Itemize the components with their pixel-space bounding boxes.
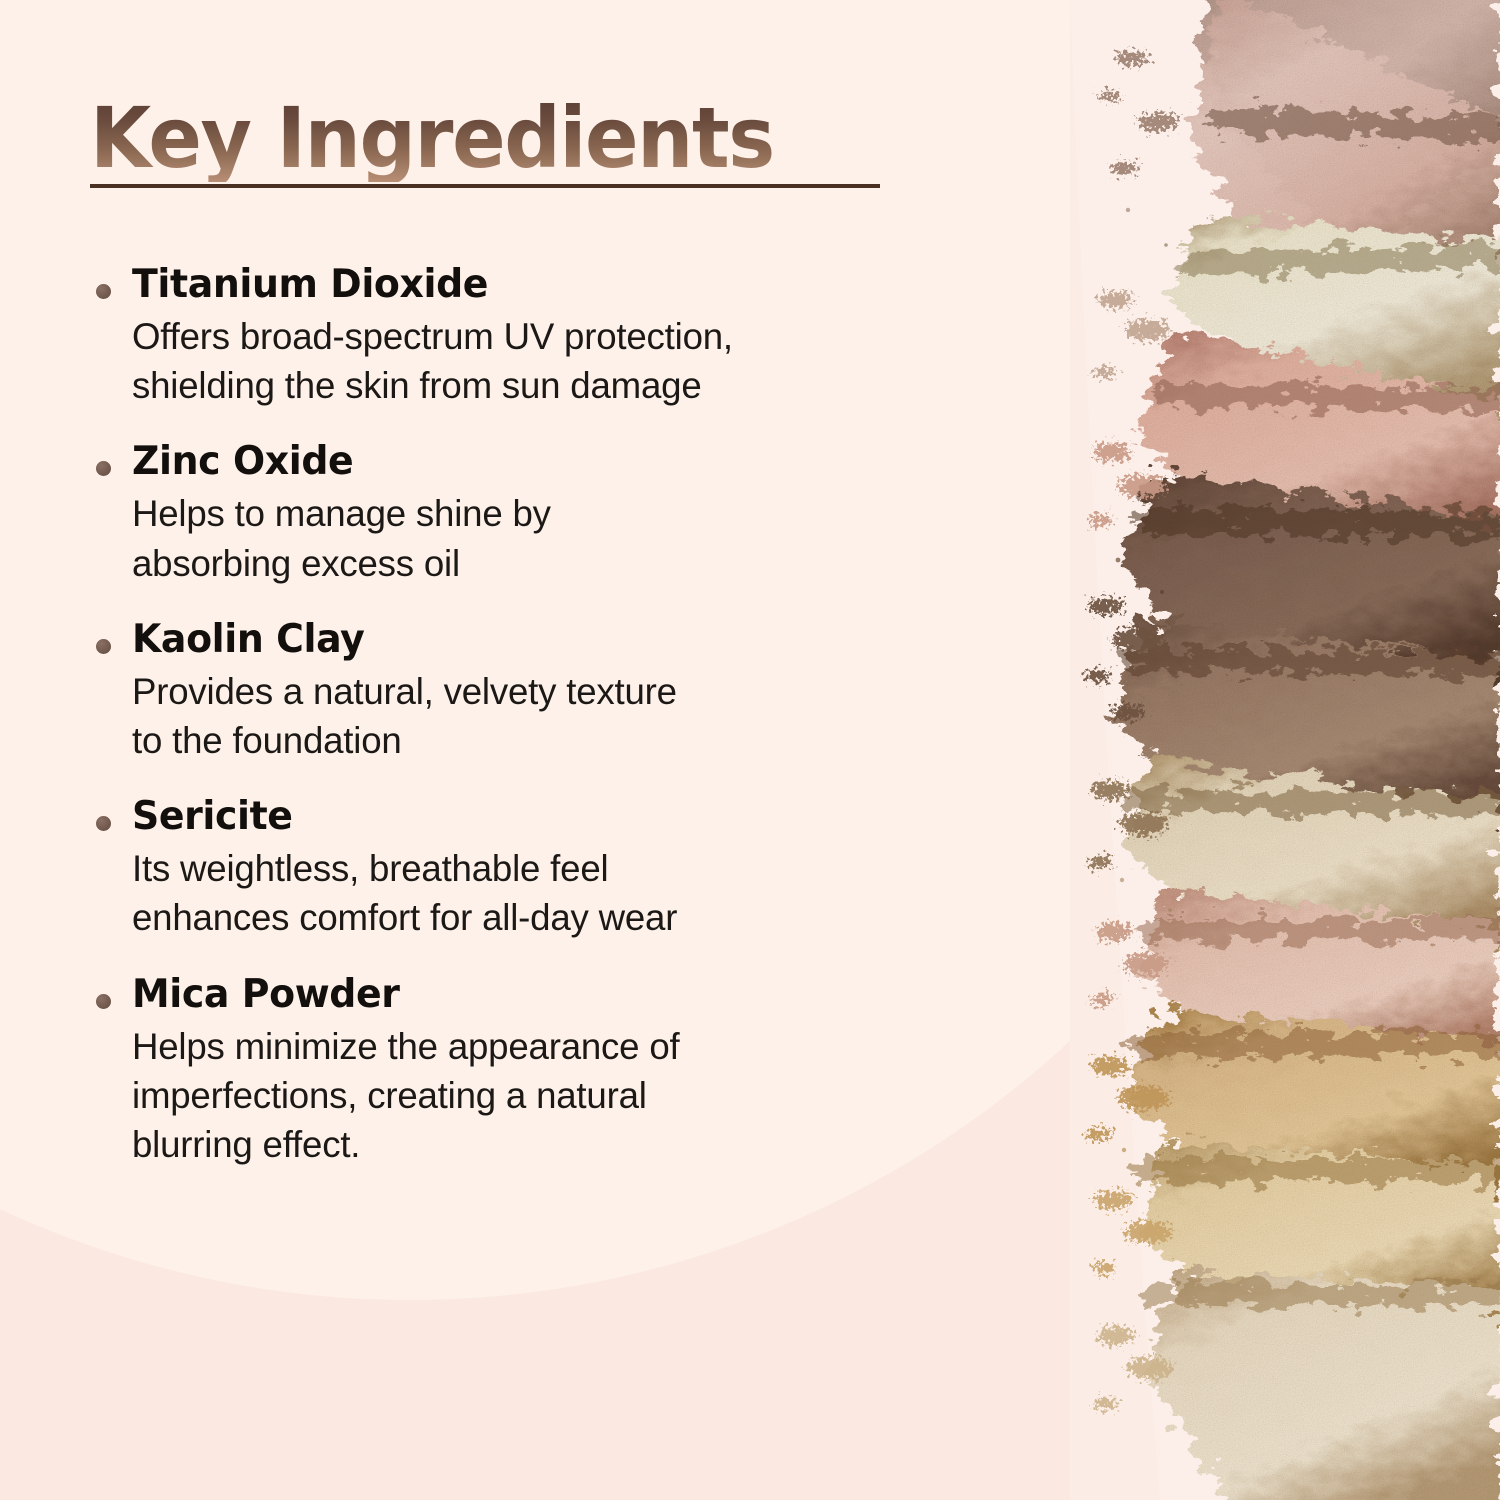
ingredients-list: Titanium Dioxide Offers broad-spectrum U… — [0, 262, 1010, 1169]
bullet-dot-icon — [96, 461, 111, 476]
list-item: Kaolin Clay Provides a natural, velvety … — [0, 617, 1010, 765]
page-title: Key Ingredients — [90, 96, 861, 182]
bullet-dot-icon — [96, 994, 111, 1009]
ingredient-name: Titanium Dioxide — [132, 262, 984, 308]
powder-swatch-image — [1070, 0, 1500, 1500]
ingredient-description: Helps minimize the appearance of imperfe… — [132, 1022, 1001, 1170]
ingredient-description: Helps to manage shine by absorbing exces… — [132, 489, 1001, 587]
key-ingredients-infographic: Key Ingredients Titanium Dioxide Offers … — [0, 0, 1500, 1500]
list-item: Sericite Its weightless, breathable feel… — [0, 794, 1010, 942]
bullet-dot-icon — [96, 816, 111, 831]
page-title-wrapper: Key Ingredients — [90, 96, 910, 182]
ingredient-name: Kaolin Clay — [132, 617, 984, 663]
list-item: Zinc Oxide Helps to manage shine by abso… — [0, 439, 1010, 587]
list-item: Titanium Dioxide Offers broad-spectrum U… — [0, 262, 1010, 410]
ingredient-name: Sericite — [132, 794, 984, 840]
powder-swatch-graphic — [1070, 0, 1500, 1500]
ingredient-description: Its weightless, breathable feel enhances… — [132, 844, 1001, 942]
list-item: Mica Powder Helps minimize the appearanc… — [0, 972, 1010, 1170]
ingredient-description: Provides a natural, velvety texture to t… — [132, 667, 1001, 765]
bullet-dot-icon — [96, 639, 111, 654]
title-underline — [90, 184, 880, 188]
bullet-dot-icon — [96, 284, 111, 299]
ingredients-content-column: Key Ingredients Titanium Dioxide Offers … — [0, 0, 1010, 1500]
ingredient-name: Mica Powder — [132, 972, 984, 1018]
ingredient-name: Zinc Oxide — [132, 439, 984, 485]
ingredient-description: Offers broad-spectrum UV protection, shi… — [132, 312, 1001, 410]
